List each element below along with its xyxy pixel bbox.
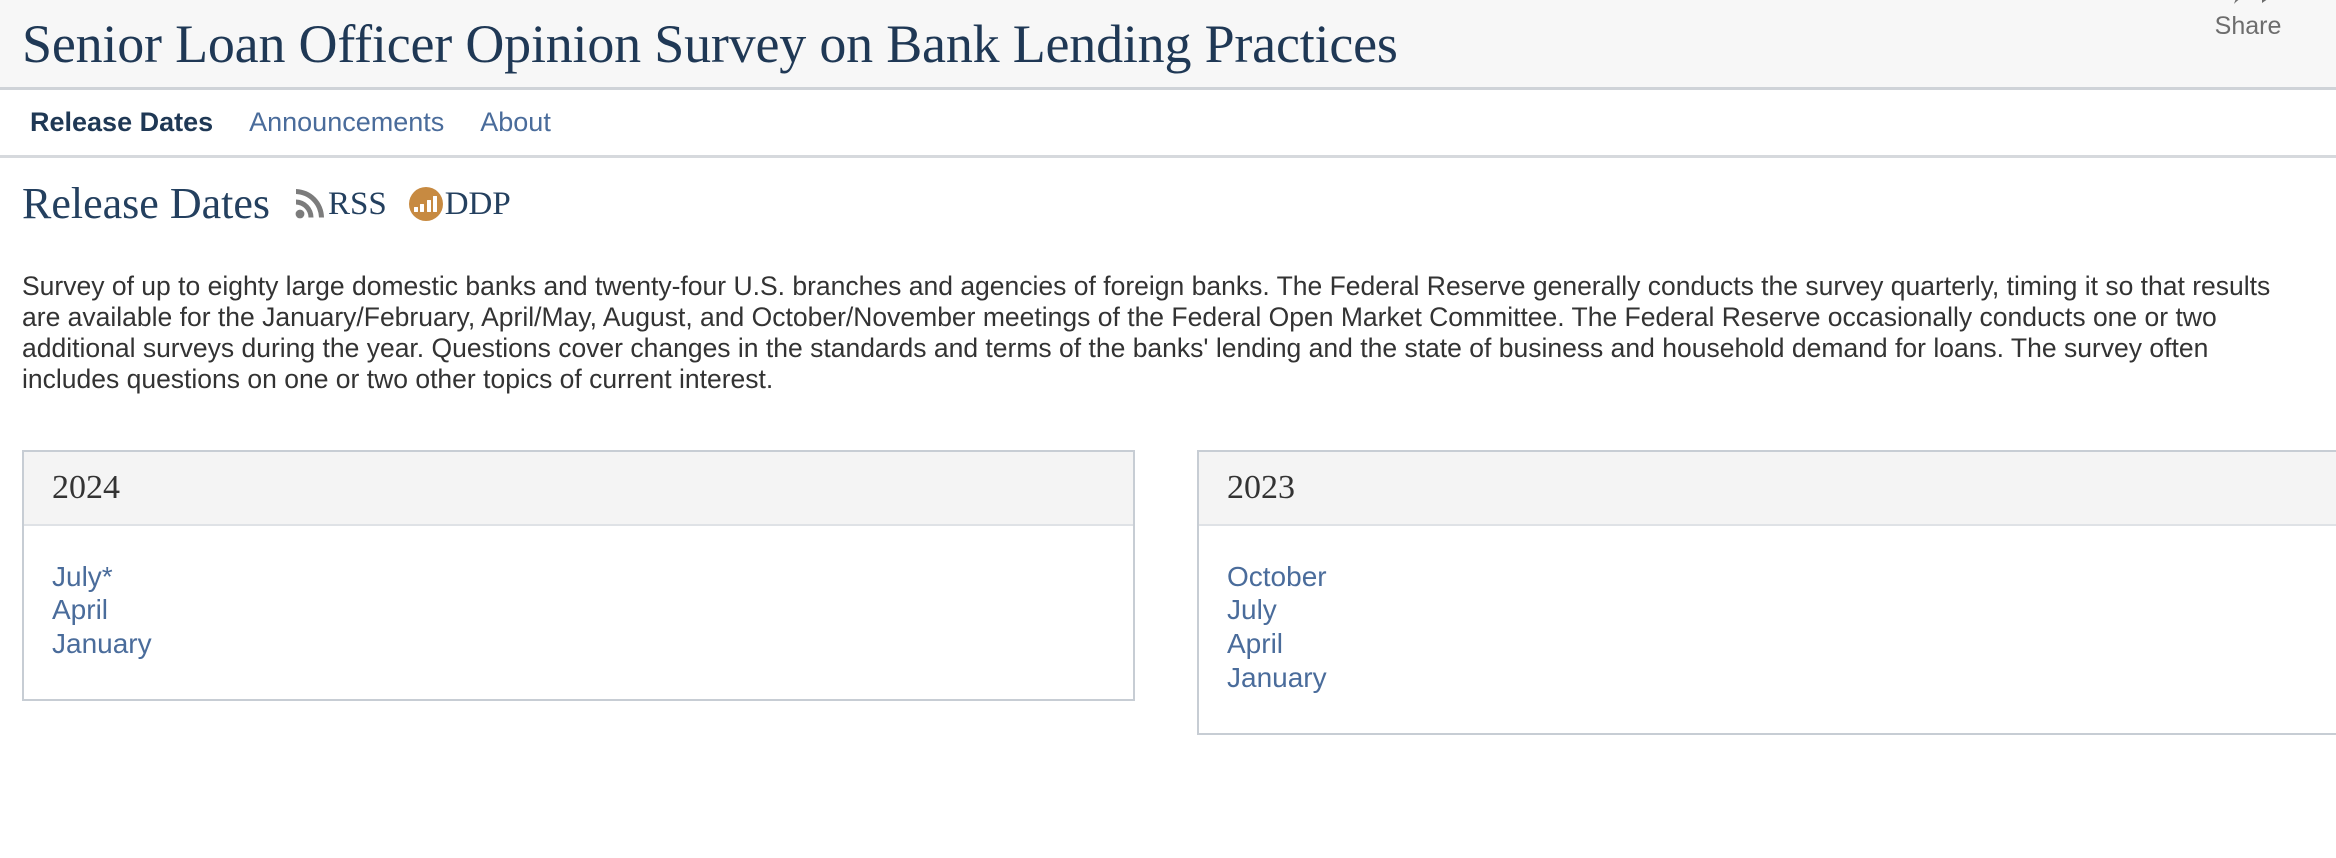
section-title: Release Dates bbox=[22, 182, 270, 226]
year-card-header: 2023 bbox=[1199, 452, 2336, 526]
release-link[interactable]: July bbox=[1227, 595, 1277, 626]
year-label: 2024 bbox=[52, 471, 120, 505]
year-card-body: October July April January bbox=[1199, 526, 2336, 733]
year-card-2023: 2023 October July April January bbox=[1197, 450, 2336, 735]
primary-nav: Release Dates Announcements About bbox=[0, 90, 2336, 158]
release-link[interactable]: April bbox=[1227, 629, 1283, 660]
share-arrow-icon bbox=[2188, 0, 2308, 12]
year-card-body: July* April January bbox=[24, 526, 1133, 699]
intro-paragraph: Survey of up to eighty large domestic ba… bbox=[0, 253, 2300, 396]
rss-link[interactable]: RSS bbox=[292, 187, 387, 221]
share-button[interactable]: Share bbox=[2188, 0, 2308, 39]
rss-label: RSS bbox=[328, 188, 387, 221]
nav-item-announcements[interactable]: Announcements bbox=[231, 107, 462, 138]
release-link[interactable]: July* bbox=[52, 562, 113, 593]
year-card-2024: 2024 July* April January bbox=[22, 450, 1135, 701]
release-link[interactable]: January bbox=[52, 629, 152, 660]
ddp-link[interactable]: DDP bbox=[409, 187, 511, 221]
release-link[interactable]: April bbox=[52, 595, 108, 626]
year-label: 2023 bbox=[1227, 471, 1295, 505]
nav-item-release-dates[interactable]: Release Dates bbox=[12, 107, 231, 138]
share-label: Share bbox=[2188, 14, 2308, 39]
section-heading-row: Release Dates RSS DDP bbox=[0, 158, 2336, 226]
release-year-cards: 2024 July* April January 2023 October Ju… bbox=[0, 422, 2336, 735]
nav-item-about[interactable]: About bbox=[462, 107, 569, 138]
release-link[interactable]: October bbox=[1227, 562, 1327, 593]
ddp-chart-icon bbox=[409, 187, 443, 221]
page-title: Senior Loan Officer Opinion Survey on Ba… bbox=[0, 17, 1398, 71]
site-header: Senior Loan Officer Opinion Survey on Ba… bbox=[0, 0, 2336, 90]
rss-icon bbox=[292, 187, 326, 221]
year-card-header: 2024 bbox=[24, 452, 1133, 526]
release-link[interactable]: January bbox=[1227, 663, 1327, 694]
ddp-label: DDP bbox=[445, 188, 511, 221]
